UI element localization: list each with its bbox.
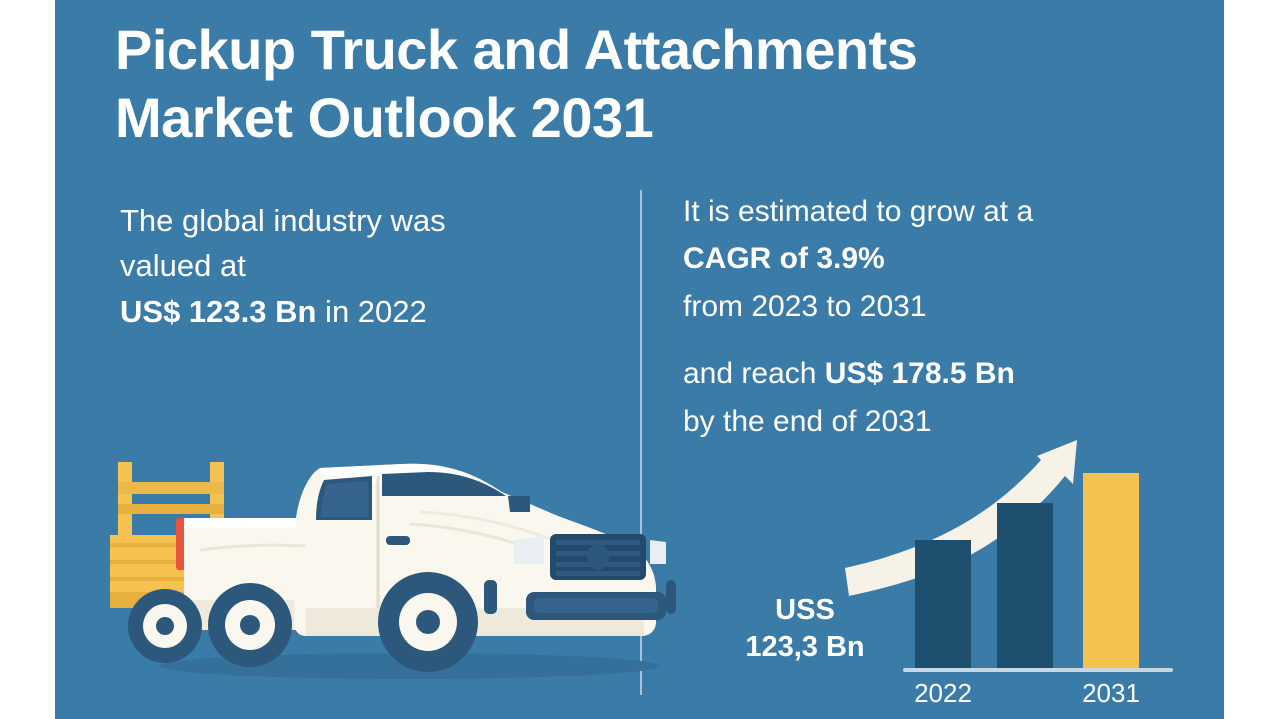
callout-currency: USS (715, 592, 895, 629)
left-value-line: US$ 123.3 Bn in 2022 (120, 289, 620, 334)
chart-value-callout: USS 123,3 Bn (715, 592, 895, 666)
page-title: Pickup Truck and Attachments Market Outl… (115, 16, 1115, 153)
tick-label-2031: 2031 (1061, 678, 1161, 709)
bar-middle (997, 503, 1053, 670)
cagr-period: from 2023 to 2031 (683, 283, 1183, 330)
right-statistic-block: It is estimated to grow at a CAGR of 3.9… (683, 188, 1183, 445)
cagr-paragraph: It is estimated to grow at a CAGR of 3.9… (683, 188, 1183, 330)
left-value-suffix: in 2022 (316, 294, 426, 329)
growth-bar-chart: USS 123,3 Bn 2022 2031 (685, 430, 1224, 715)
left-line-1: The global industry was (120, 198, 620, 243)
tick-label-2022: 2022 (893, 678, 993, 709)
truck-headlight-left (514, 536, 544, 564)
callout-amount: 123,3 Bn (715, 629, 895, 666)
left-statistic-block: The global industry was valued at US$ 12… (120, 198, 620, 334)
forecast-value: US$ 178.5 Bn (825, 357, 1015, 390)
left-value: US$ 123.3 Bn (120, 294, 316, 329)
pickup-truck-illustration (110, 440, 690, 690)
infographic-canvas: Pickup Truck and Attachments Market Outl… (0, 0, 1280, 719)
cagr-line-1: It is estimated to grow at a (683, 188, 1183, 235)
blue-panel: Pickup Truck and Attachments Market Outl… (55, 0, 1224, 719)
left-line-2: valued at (120, 243, 620, 288)
truck-grille (550, 534, 646, 580)
bar-2031 (1083, 473, 1139, 670)
chart-axis-line (903, 668, 1173, 672)
truck-headlight-right (650, 540, 666, 564)
forecast-prefix: and reach (683, 357, 825, 390)
forecast-value-line: and reach US$ 178.5 Bn (683, 350, 1183, 397)
cagr-value: CAGR of 3.9% (683, 235, 1183, 282)
bar-2022 (915, 540, 971, 670)
